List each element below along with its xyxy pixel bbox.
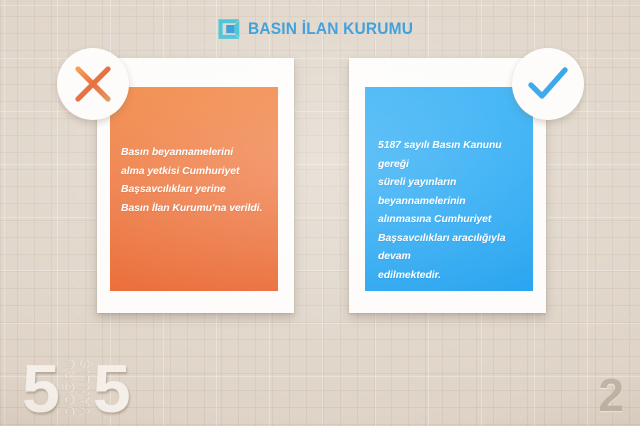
- x-mark-icon: [70, 61, 116, 107]
- label-yanlis: YANLIŞ: [76, 358, 92, 416]
- card-correct-line: süreli yayınların beyannamelerinin: [378, 174, 525, 211]
- card-correct-line: alınmasına Cumhuriyet: [378, 211, 525, 230]
- card-wrong-line: alma yetkisi Cumhuriyet: [121, 163, 268, 182]
- check-mark-icon: [524, 60, 572, 108]
- card-correct-line: Başsavcılıkları aracılığıyla devam: [378, 230, 525, 267]
- slide-canvas: BASIN İLAN KURUMU Basın beyannamelerini …: [0, 0, 640, 426]
- card-correct-line: edilmektedir.: [378, 267, 525, 286]
- score-left-digit: 5: [22, 362, 60, 418]
- page-number: 2: [598, 372, 624, 418]
- card-correct-panel: 5187 sayılı Basın Kanunu gereği süreli y…: [365, 87, 533, 291]
- card-wrong-line: Basın İlan Kurumu'na verildi.: [121, 200, 268, 219]
- card-wrong-text: Basın beyannamelerini alma yetkisi Cumhu…: [121, 144, 268, 218]
- basin-ilan-kurumu-logo-mark-icon: [217, 17, 241, 41]
- label-dogru: DOĞRU: [61, 358, 77, 416]
- brand-logo-text: BASIN İLAN KURUMU: [248, 20, 413, 39]
- score-words: DOĞRU YANLIŞ: [61, 358, 92, 416]
- card-wrong-panel: Basın beyannamelerini alma yetkisi Cumhu…: [110, 87, 278, 291]
- badge-correct: [512, 48, 584, 120]
- card-correct-text: 5187 sayılı Basın Kanunu gereği süreli y…: [378, 137, 525, 285]
- score-right-digit: 5: [93, 362, 131, 418]
- card-wrong-line: Başsavcılıkları yerine: [121, 181, 268, 200]
- card-wrong-line: Basın beyannamelerini: [121, 144, 268, 163]
- score-lockup: 5 DOĞRU YANLIŞ 5: [22, 356, 131, 418]
- brand-logo: BASIN İLAN KURUMU: [0, 14, 640, 44]
- card-correct-line: 5187 sayılı Basın Kanunu gereği: [378, 137, 525, 174]
- badge-wrong: [57, 48, 129, 120]
